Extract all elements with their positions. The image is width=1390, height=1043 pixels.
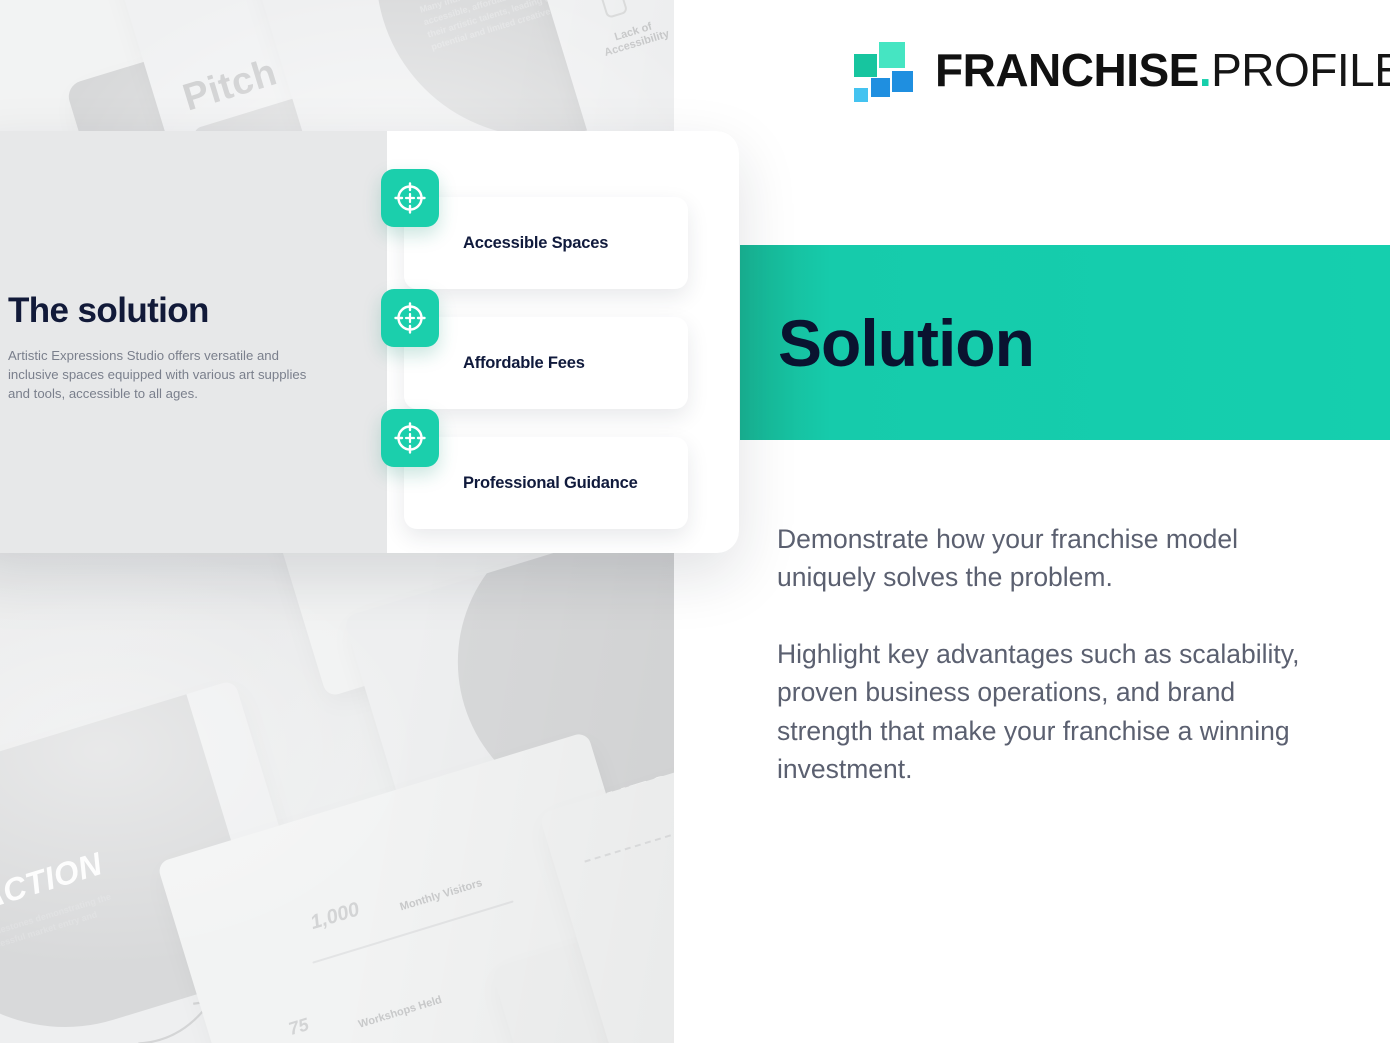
feature-list: Accessible Spaces Affordab	[381, 169, 721, 529]
brand-logo-text: FRANCHISE.PROFILES	[935, 47, 1390, 93]
feature-label: Affordable Fees	[404, 354, 585, 373]
description-paragraph-2: Highlight key advantages such as scalabi…	[777, 635, 1307, 788]
crosshair-target-icon	[381, 169, 439, 227]
bg-item-accessibility: Lack of Accessibility	[588, 13, 674, 62]
section-banner: Solution	[740, 245, 1390, 440]
description-paragraph-1: Demonstrate how your franchise model uni…	[777, 520, 1307, 596]
bg-doc-icon	[600, 0, 629, 19]
bg-stat-workshops-value: 75	[286, 1014, 311, 1040]
bg-stat-visitors-label: Monthly Visitors	[399, 877, 484, 913]
feature-item-affordable-fees[interactable]: Affordable Fees	[381, 289, 721, 409]
feature-item-professional-guidance[interactable]: Professional Guidance	[381, 409, 721, 529]
slide-card-subtext: Artistic Expressions Studio offers versa…	[8, 346, 320, 403]
section-title: Solution	[778, 310, 1034, 376]
slide-preview-page: spaces in urban and suburban areas, repr…	[0, 0, 1390, 1043]
slide-card-heading: The solution	[8, 291, 209, 331]
crosshair-target-icon	[381, 289, 439, 347]
brand-name-light: PROFILES	[1211, 44, 1390, 96]
feature-label: Professional Guidance	[404, 474, 638, 493]
brand-logo[interactable]: FRANCHISE.PROFILES	[851, 40, 1390, 100]
brand-name-bold: FRANCHISE	[935, 44, 1199, 96]
feature-label: Accessible Spaces	[404, 234, 608, 253]
feature-card[interactable]: Accessible Spaces	[404, 197, 688, 289]
bg-stat-workshops-label: Workshops Held	[357, 994, 443, 1031]
feature-card[interactable]: Professional Guidance	[404, 437, 688, 529]
feature-item-accessible-spaces[interactable]: Accessible Spaces	[381, 169, 721, 289]
slide-preview-card[interactable]: The solution Artistic Expressions Studio…	[0, 131, 739, 553]
brand-name-dot: .	[1199, 44, 1211, 96]
five-squares-logo-icon	[851, 40, 913, 100]
section-description: Demonstrate how your franchise model uni…	[777, 520, 1307, 788]
feature-card[interactable]: Affordable Fees	[404, 317, 688, 409]
bg-stat-visitors-value: 1,000	[308, 898, 363, 935]
crosshair-target-icon	[381, 409, 439, 467]
